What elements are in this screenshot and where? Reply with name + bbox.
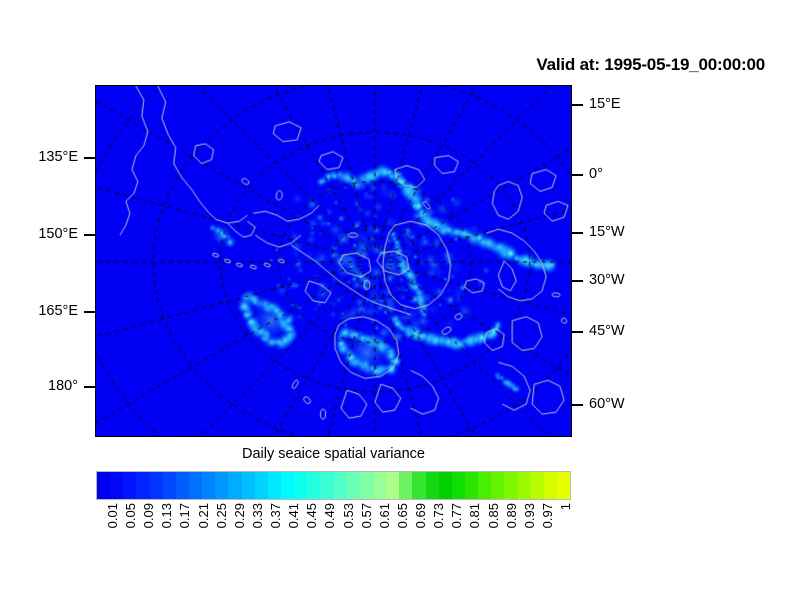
colorbar-swatch [215,472,228,499]
colorbar-swatch [228,472,241,499]
colorbar-tick-label: 0.45 [305,503,318,528]
right-tick-4 [572,331,583,333]
right-tick-1 [572,174,583,176]
colorbar-tick-label: 0.25 [215,503,228,528]
seaice-variance-map [96,86,571,436]
colorbar-tick-label: 0.97 [541,503,554,528]
colorbar-swatch [360,472,373,499]
colorbar-tick-label: 0.65 [396,503,409,528]
colorbar-tick-label: 0.89 [505,503,518,528]
left-axis-label: 180° [48,379,78,394]
left-tick-1 [84,234,95,236]
colorbar-container [96,471,571,500]
colorbar-swatch [150,472,163,499]
colorbar-swatch [320,472,333,499]
colorbar-swatch [123,472,136,499]
right-axis-label: 15°W [589,225,625,240]
left-tick-0 [84,157,95,159]
colorbar-swatch [412,472,425,499]
colorbar-tick-label: 0.09 [142,503,155,528]
left-tick-2 [84,311,95,313]
colorbar-swatch [531,472,544,499]
right-axis-label: 0° [589,167,603,182]
right-tick-0 [572,104,583,106]
left-axis-label: 165°E [38,304,78,319]
colorbar-swatch [386,472,399,499]
colorbar-swatch [255,472,268,499]
colorbar-swatch [399,472,412,499]
colorbar-tick-label: 0.17 [178,503,191,528]
colorbar-swatch [491,472,504,499]
left-tick-3 [84,386,95,388]
colorbar-swatch [307,472,320,499]
colorbar-tick-label: 0.69 [414,503,427,528]
colorbar-tick-label: 1 [559,503,572,510]
colorbar-tick-label: 0.05 [124,503,137,528]
colorbar-swatch [294,472,307,499]
colorbar-tick-label: 0.73 [432,503,445,528]
colorbar-tick-label: 0.21 [197,503,210,528]
colorbar-tick-label: 0.49 [323,503,336,528]
right-axis-label: 60°W [589,397,625,412]
colorbar [96,471,571,500]
colorbar-tick-label: 0.29 [233,503,246,528]
left-axis-label: 150°E [38,227,78,242]
colorbar-swatch [439,472,452,499]
colorbar-swatch [242,472,255,499]
colorbar-caption: Daily seaice spatial variance [95,446,572,462]
colorbar-tick-label: 0.93 [523,503,536,528]
page-title: Valid at: 1995-05-19_00:00:00 [536,55,765,75]
colorbar-swatch [426,472,439,499]
colorbar-swatch [189,472,202,499]
colorbar-swatch [347,472,360,499]
colorbar-swatch [268,472,281,499]
colorbar-tick-label: 0.81 [468,503,481,528]
left-axis-label: 135°E [38,150,78,165]
colorbar-swatch [110,472,123,499]
colorbar-swatch [518,472,531,499]
colorbar-tick-labels: 0.010.050.090.130.170.210.250.290.330.37… [96,503,571,563]
colorbar-swatch [544,472,557,499]
colorbar-swatch [478,472,491,499]
colorbar-tick-label: 0.37 [269,503,282,528]
colorbar-tick-label: 0.01 [106,503,119,528]
colorbar-swatch [373,472,386,499]
colorbar-tick-label: 0.61 [378,503,391,528]
right-axis-label: 30°W [589,273,625,288]
colorbar-swatch [557,472,570,499]
colorbar-swatch [504,472,517,499]
colorbar-swatch [452,472,465,499]
colorbar-swatch [163,472,176,499]
right-tick-3 [572,280,583,282]
colorbar-tick-label: 0.85 [487,503,500,528]
colorbar-swatch [136,472,149,499]
colorbar-tick-label: 0.77 [450,503,463,528]
colorbar-swatch [281,472,294,499]
colorbar-swatch [97,472,110,499]
colorbar-tick-label: 0.57 [360,503,373,528]
colorbar-tick-label: 0.13 [160,503,173,528]
colorbar-tick-label: 0.41 [287,503,300,528]
map-plot-area [95,85,572,437]
right-axis-label: 15°E [589,97,621,112]
right-axis-label: 45°W [589,324,625,339]
colorbar-tick-label: 0.53 [342,503,355,528]
right-tick-2 [572,232,583,234]
colorbar-tick-label: 0.33 [251,503,264,528]
colorbar-swatch [334,472,347,499]
colorbar-swatch [176,472,189,499]
colorbar-swatch [465,472,478,499]
right-tick-5 [572,404,583,406]
colorbar-swatch [202,472,215,499]
